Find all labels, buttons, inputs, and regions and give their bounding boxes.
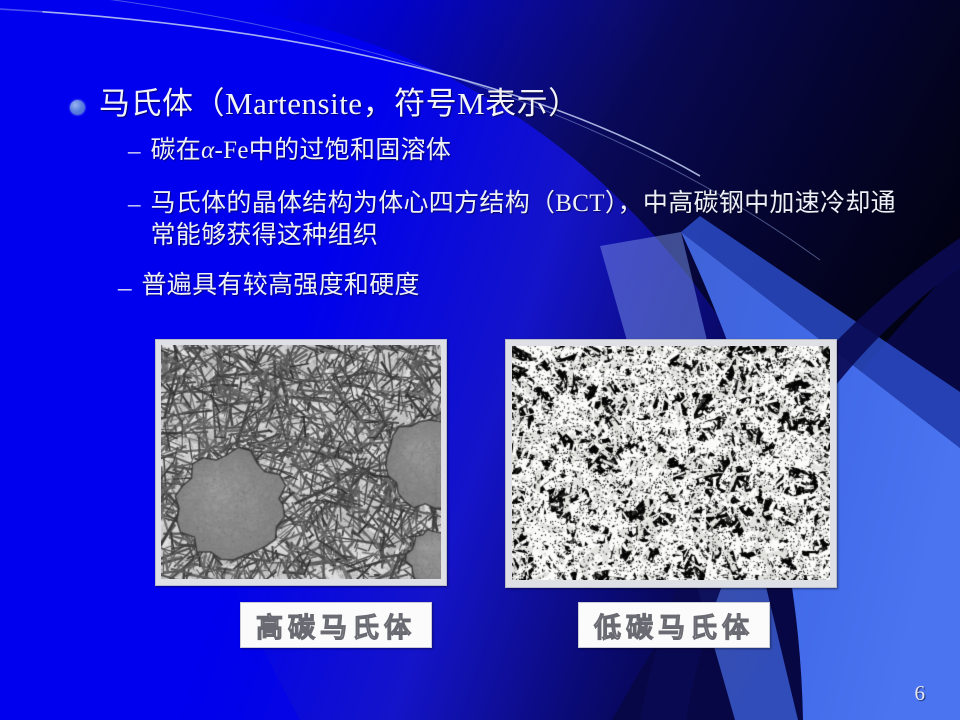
micrograph-canvas-gray [161,345,441,579]
dash-bullet-icon: – [118,270,132,305]
alpha-symbol: α [201,137,214,164]
bullet-level2-hardness: – 普遍具有较高强度和硬度 [118,270,818,305]
bullet-level2-bct: – 马氏体的晶体结构为体心四方结构（BCT），中高碳钢中加速冷却通常能够获得这种… [128,188,918,251]
text-after-alpha: -Fe中的过饱和固溶体 [215,137,452,164]
bullet-level1-label: 马氏体（Martensite，符号M表示） [99,86,580,123]
caption-high-carbon-martensite: 高碳马氏体 [240,602,432,648]
high-carbon-martensite-micrograph [155,339,447,586]
micrograph-canvas-bw [512,346,830,580]
caption-right-label: 低碳马氏体 [594,606,754,645]
slide-content: 马氏体（Martensite，符号M表示） – 碳在α-Fe中的过饱和固溶体 –… [0,0,960,720]
bullet-level2-bct-label: 马氏体的晶体结构为体心四方结构（BCT），中高碳钢中加速冷却通常能够获得这种组织 [151,188,919,251]
dash-bullet-icon: – [128,135,141,167]
bullet-level2-carbon-label: 碳在α-Fe中的过饱和固溶体 [151,135,452,167]
bullet-level2-carbon: – 碳在α-Fe中的过饱和固溶体 [128,135,828,167]
text-before-alpha: 碳在 [151,137,202,164]
caption-low-carbon-martensite: 低碳马氏体 [578,602,770,648]
dash-bullet-icon: – [128,188,141,220]
caption-left-label: 高碳马氏体 [256,606,416,645]
disc-bullet-icon [70,100,85,115]
page-number: 6 [915,681,926,706]
slide-canvas: 马氏体（Martensite，符号M表示） – 碳在α-Fe中的过饱和固溶体 –… [0,0,960,720]
bullet-level1: 马氏体（Martensite，符号M表示） [70,86,770,123]
low-carbon-martensite-micrograph [505,339,837,588]
bullet-level2-hardness-label: 普遍具有较高强度和硬度 [142,270,420,302]
